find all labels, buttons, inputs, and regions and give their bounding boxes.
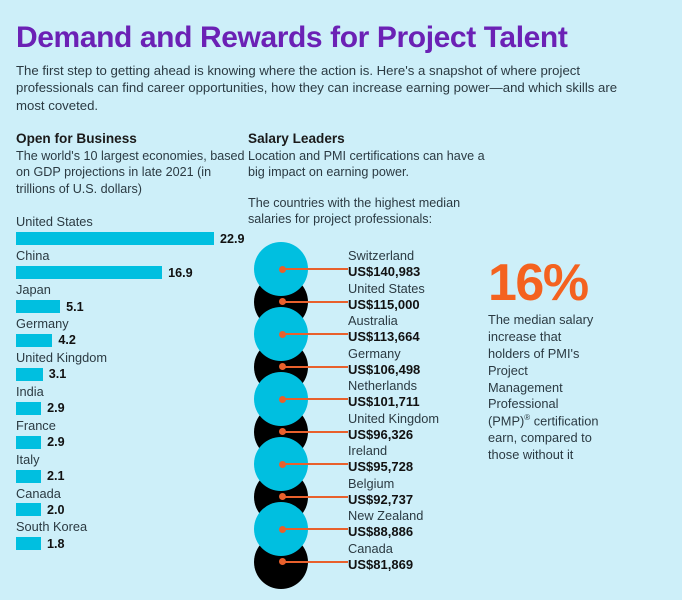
salary-leaders-list: SwitzerlandUS$140,983United StatesUS$115… [248, 242, 488, 586]
gdp-bar-row: Japan5.1 [16, 282, 248, 313]
salary-connector-dot [279, 428, 286, 435]
salary-connector-line [281, 268, 348, 270]
salary-text-group: SwitzerlandUS$140,983 [348, 248, 488, 281]
callout-text-before: The median salary increase that holders … [488, 312, 593, 429]
page-subtitle: The first step to getting ahead is knowi… [16, 62, 641, 115]
gdp-bar-fill [16, 232, 214, 245]
gdp-bar-value: 22.9 [220, 232, 245, 246]
salary-amount-value: US$113,664 [348, 329, 488, 346]
salary-connector-line [281, 398, 348, 400]
salary-connector-dot [279, 526, 286, 533]
gdp-bar-value: 2.1 [47, 469, 65, 483]
salary-country-label: New Zealand [348, 508, 488, 524]
gdp-bar-line: 4.2 [16, 334, 248, 347]
gdp-bar-fill [16, 402, 41, 415]
gdp-bar-value: 3.1 [49, 367, 67, 381]
gdp-bar-chart: United States22.9China16.9Japan5.1German… [16, 214, 248, 550]
gdp-bar-label: China [16, 248, 248, 265]
salary-list-item: IrelandUS$95,728 [248, 437, 488, 491]
gdp-bar-line: 2.1 [16, 470, 248, 483]
salary-leaders-title: Salary Leaders [248, 131, 488, 146]
salary-amount-value: US$81,869 [348, 557, 488, 574]
open-for-business-section: Open for Business The world's 10 largest… [16, 131, 248, 586]
salary-amount-value: US$140,983 [348, 264, 488, 281]
gdp-bar-row: France2.9 [16, 418, 248, 449]
gdp-bar-fill [16, 368, 43, 381]
gdp-bar-line: 1.8 [16, 537, 248, 550]
gdp-bar-line: 22.9 [16, 232, 248, 245]
open-for-business-title: Open for Business [16, 131, 248, 146]
salary-list-item: SwitzerlandUS$140,983 [248, 242, 488, 296]
open-for-business-description: The world's 10 largest economies, based … [16, 148, 248, 198]
gdp-bar-value: 2.0 [47, 503, 65, 517]
salary-list-item: New ZealandUS$88,886 [248, 502, 488, 556]
gdp-bar-line: 16.9 [16, 266, 248, 279]
gdp-bar-fill [16, 470, 41, 483]
gdp-bar-row: United States22.9 [16, 214, 248, 245]
salary-text-group: IrelandUS$95,728 [348, 443, 488, 476]
gdp-bar-fill [16, 436, 41, 449]
salary-text-group: NetherlandsUS$101,711 [348, 378, 488, 411]
salary-connector-dot [279, 396, 286, 403]
gdp-bar-value: 2.9 [47, 401, 65, 415]
salary-connector-line [281, 561, 348, 563]
gdp-bar-label: United Kingdom [16, 350, 248, 367]
gdp-bar-fill [16, 300, 60, 313]
gdp-bar-fill [16, 503, 41, 516]
salary-connector-dot [279, 331, 286, 338]
gdp-bar-label: Italy [16, 452, 248, 469]
salary-connector-dot [279, 298, 286, 305]
salary-text-group: New ZealandUS$88,886 [348, 508, 488, 541]
gdp-bar-line: 5.1 [16, 300, 248, 313]
salary-text-group: AustraliaUS$113,664 [348, 313, 488, 346]
gdp-bar-fill [16, 537, 41, 550]
page-title: Demand and Rewards for Project Talent [16, 22, 666, 54]
gdp-bar-value: 16.9 [168, 266, 193, 280]
salary-connector-dot [279, 461, 286, 468]
salary-leaders-section: Salary Leaders Location and PMI certific… [248, 131, 488, 586]
gdp-bar-row: United Kingdom3.1 [16, 350, 248, 381]
gdp-bar-label: Germany [16, 316, 248, 333]
gdp-bar-label: South Korea [16, 519, 248, 536]
gdp-bar-label: Canada [16, 486, 248, 503]
salary-connector-line [281, 528, 348, 530]
salary-country-label: Netherlands [348, 378, 488, 394]
salary-amount-value: US$101,711 [348, 394, 488, 411]
gdp-bar-line: 2.0 [16, 503, 248, 516]
salary-connector-line [281, 463, 348, 465]
salary-amount-value: US$88,886 [348, 524, 488, 541]
salary-country-label: Ireland [348, 443, 488, 459]
salary-amount-value: US$95,728 [348, 459, 488, 476]
salary-connector-dot [279, 558, 286, 565]
salary-connector-dot [279, 493, 286, 500]
salary-connector-dot [279, 363, 286, 370]
gdp-bar-row: Germany4.2 [16, 316, 248, 347]
gdp-bar-line: 2.9 [16, 436, 248, 449]
salary-connector-line [281, 333, 348, 335]
page-header: Demand and Rewards for Project Talent Th… [0, 0, 682, 115]
gdp-bar-row: China16.9 [16, 248, 248, 279]
gdp-bar-label: United States [16, 214, 248, 231]
gdp-bar-row: Italy2.1 [16, 452, 248, 483]
gdp-bar-line: 2.9 [16, 402, 248, 415]
salary-country-label: Switzerland [348, 248, 488, 264]
salary-connector-line [281, 496, 348, 498]
salary-list-item: NetherlandsUS$101,711 [248, 372, 488, 426]
gdp-bar-label: India [16, 384, 248, 401]
gdp-bar-row: South Korea1.8 [16, 519, 248, 550]
gdp-bar-fill [16, 266, 162, 279]
gdp-bar-row: Canada2.0 [16, 486, 248, 517]
callout-percentage: 16% [488, 259, 666, 308]
gdp-bar-value: 1.8 [47, 537, 65, 551]
salary-country-label: Australia [348, 313, 488, 329]
gdp-bar-label: Japan [16, 282, 248, 299]
salary-connector-line [281, 431, 348, 433]
content-columns: Open for Business The world's 10 largest… [0, 115, 682, 586]
salary-list-item: AustraliaUS$113,664 [248, 307, 488, 361]
gdp-bar-fill [16, 334, 52, 347]
salary-connector-line [281, 301, 348, 303]
pmp-callout-section: 16% The median salary increase that hold… [488, 131, 666, 586]
gdp-bar-value: 2.9 [47, 435, 65, 449]
salary-leaders-description: Location and PMI certifications can have… [248, 148, 488, 181]
gdp-bar-row: India2.9 [16, 384, 248, 415]
salary-leaders-subdescription: The countries with the highest median sa… [248, 195, 488, 228]
gdp-bar-label: France [16, 418, 248, 435]
salary-connector-line [281, 366, 348, 368]
gdp-bar-value: 4.2 [58, 333, 76, 347]
callout-description: The median salary increase that holders … [488, 312, 600, 464]
gdp-bar-value: 5.1 [66, 300, 84, 314]
gdp-bar-line: 3.1 [16, 368, 248, 381]
salary-connector-dot [279, 266, 286, 273]
